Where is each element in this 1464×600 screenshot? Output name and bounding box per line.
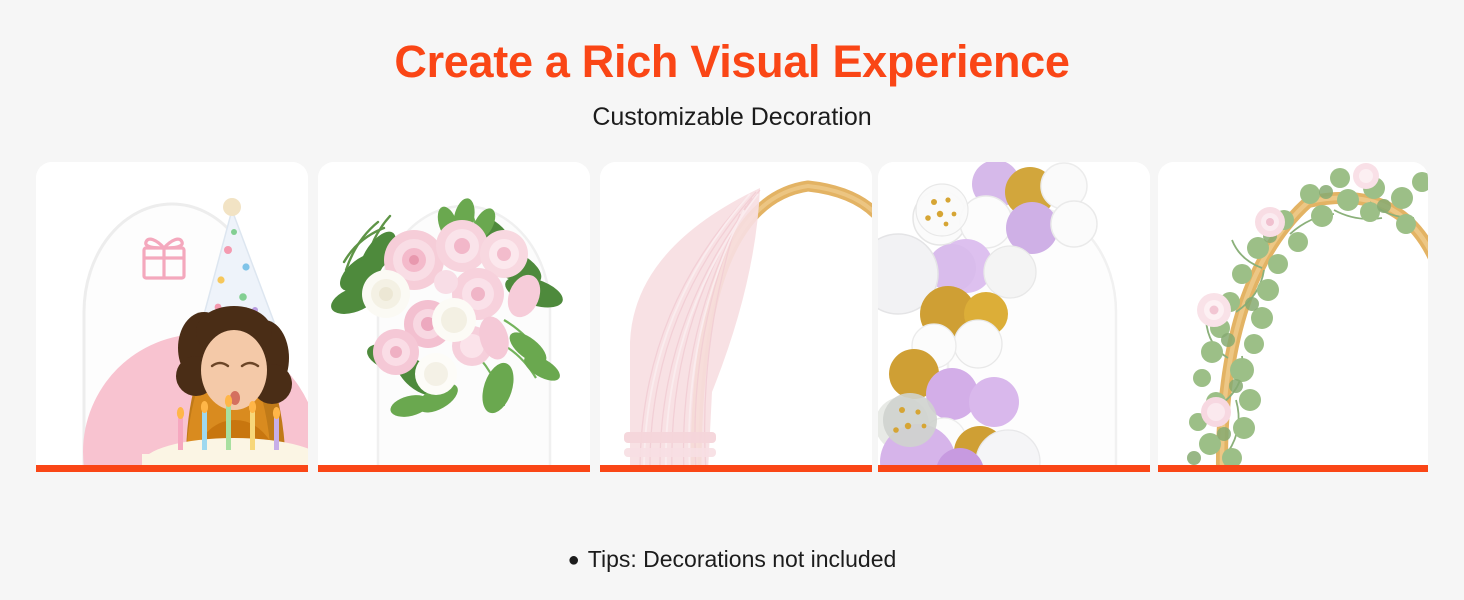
balloons-illustration (878, 162, 1150, 472)
tips-text: Tips: Decorations not included (588, 546, 897, 572)
fresh-flowers-illustration (318, 162, 590, 472)
page-title: Create a Rich Visual Experience (0, 36, 1464, 88)
card-label-text: Plants (1158, 465, 1428, 472)
page-subtitle: Customizable Decoration (0, 103, 1464, 132)
category-card-tulle[interactable]: Tulle (600, 162, 872, 472)
category-card-fresh-flowers[interactable]: Fresh Flowers (318, 162, 590, 472)
category-card-balloons[interactable]: Balloons (878, 162, 1150, 472)
card-label-text: Caps (36, 465, 308, 472)
caps-illustration (36, 162, 308, 472)
category-card-plants[interactable]: Plants (1158, 162, 1428, 472)
card-label-caps: Caps (36, 465, 308, 472)
tulle-illustration (600, 162, 872, 472)
card-label-text: Balloons (878, 465, 1150, 472)
promo-banner: Create a Rich Visual Experience Customiz… (0, 0, 1464, 600)
plants-illustration (1158, 162, 1428, 472)
card-label-balloons: Balloons (878, 465, 1150, 472)
card-label-text: Fresh Flowers (318, 465, 590, 472)
card-label-text: Tulle (600, 465, 872, 472)
card-label-tulle: Tulle (600, 465, 872, 472)
tips-note: ●Tips: Decorations not included (0, 546, 1464, 573)
category-card-caps[interactable]: Caps (36, 162, 308, 472)
card-label-plants: Plants (1158, 465, 1428, 472)
card-label-fresh-flowers: Fresh Flowers (318, 465, 590, 472)
bullet-icon: ● (568, 549, 580, 571)
category-card-list: Caps (36, 162, 1428, 534)
